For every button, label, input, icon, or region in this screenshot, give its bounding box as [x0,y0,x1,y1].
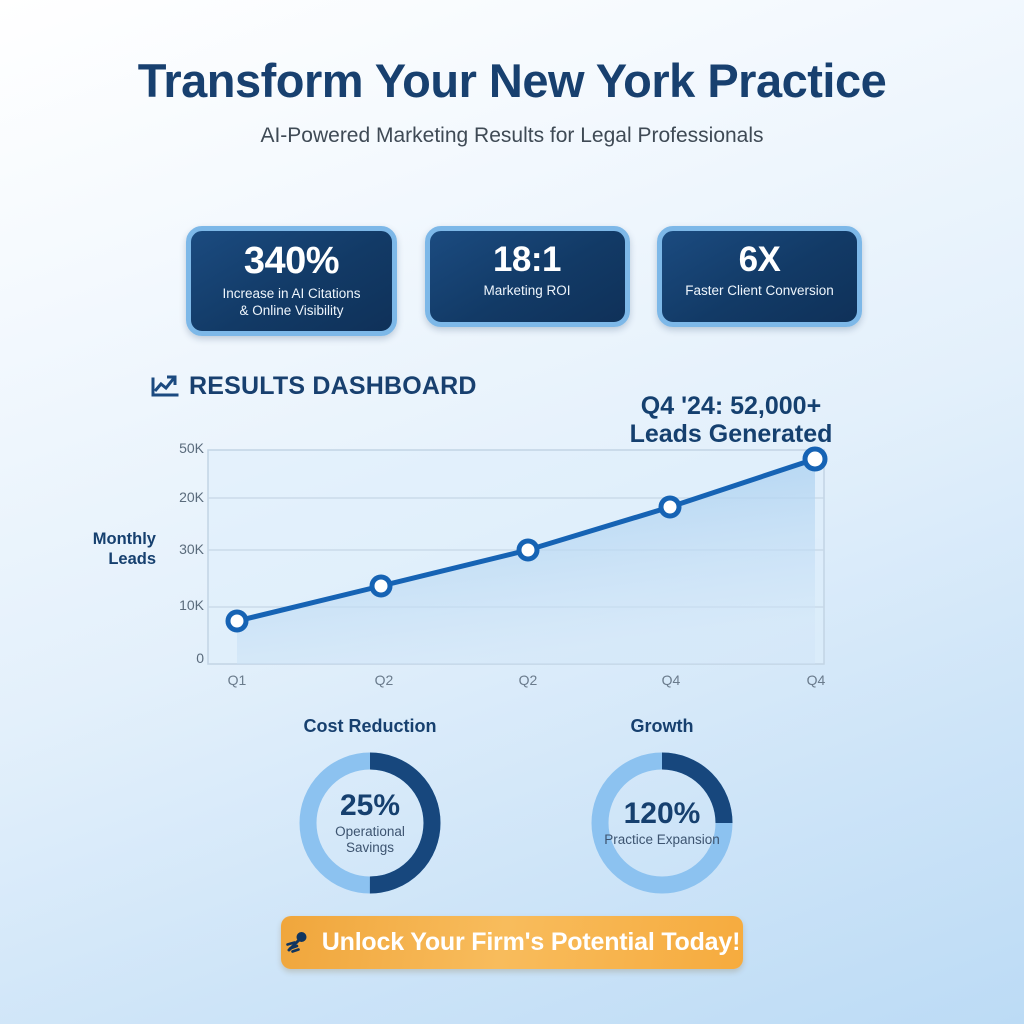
donut-subtitle: Operational Savings [335,824,405,856]
stat-value: 340% [199,241,384,282]
x-tick-2: Q2 [498,672,558,688]
stat-value: 18:1 [438,241,617,279]
donut-title: Cost Reduction [270,716,470,737]
chart-annotation-line1: Q4 '24: 52,000+ [566,392,896,420]
stat-card-citations[interactable]: 340% Increase in AI Citations & Online V… [186,226,397,336]
data-point-q4 [661,498,679,516]
stat-card-roi[interactable]: 18:1 Marketing ROI [425,226,630,327]
x-tick-1: Q2 [354,672,414,688]
donut-value: 120% [624,799,701,829]
donut-subtitle-line1: Practice Expansion [604,832,720,847]
y-tick-2: 30K [148,541,204,557]
y-tick-4: 0 [148,650,204,666]
x-tick-0: Q1 [207,672,267,688]
stat-label: Marketing ROI [438,282,617,299]
y-tick-1: 20K [148,489,204,505]
x-tick-4: Q4 [786,672,846,688]
donut-cost-reduction: Cost Reduction 25% Operational Savings [270,716,470,901]
x-tick-3: Q4 [641,672,701,688]
data-point-q3 [519,541,537,559]
header: Transform Your New York Practice AI-Powe… [0,56,1024,147]
stat-label: Faster Client Conversion [670,282,849,299]
chart-increasing-icon [150,373,180,401]
dashboard-heading: RESULTS DASHBOARD [150,372,477,401]
y-tick-3: 10K [148,597,204,613]
page-subtitle: AI-Powered Marketing Results for Legal P… [0,124,1024,147]
data-point-q2 [372,577,390,595]
cta-button[interactable]: Unlock Your Firm's Potential Today! [281,916,743,969]
y-tick-0: 50K [148,440,204,456]
cta-label: Unlock Your Firm's Potential Today! [322,928,740,957]
data-point-q5 [805,449,825,469]
donut-value: 25% [340,791,400,821]
stat-value: 6X [670,241,849,279]
donut-subtitle-line2: Savings [346,840,394,855]
donut-center: 25% Operational Savings [292,745,448,901]
infographic-page: Transform Your New York Practice AI-Powe… [0,0,1024,1024]
data-point-q1 [228,612,246,630]
rocket-icon [284,930,311,955]
stat-card-conversion[interactable]: 6X Faster Client Conversion [657,226,862,327]
donut-subtitle-line1: Operational [335,824,405,839]
dashboard-title: RESULTS DASHBOARD [189,372,477,401]
donut-center: 120% Practice Expansion [584,745,740,901]
stat-label: Increase in AI Citations & Online Visibi… [199,285,384,320]
donut-chart: 120% Practice Expansion [584,745,740,901]
donut-growth: Growth 120% Practice Expansion [562,716,762,901]
page-title: Transform Your New York Practice [0,56,1024,105]
stat-card-row: 340% Increase in AI Citations & Online V… [186,226,862,336]
donut-chart: 25% Operational Savings [292,745,448,901]
donut-title: Growth [562,716,762,737]
donut-subtitle: Practice Expansion [604,832,720,848]
